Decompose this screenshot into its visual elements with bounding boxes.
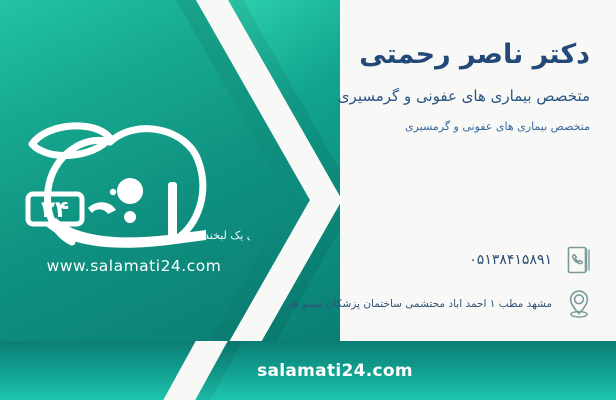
logo-number-badge: ۲۴ — [28, 194, 82, 224]
logo-tagline: به راحتی یک لبخند — [204, 229, 250, 242]
map-pin-icon — [564, 287, 594, 321]
footer-website-url[interactable]: salamati24.com — [0, 341, 616, 400]
doctor-specialty-secondary: متخصص بیماری های عفونی و گرمسیری — [170, 120, 590, 135]
doctor-name: دکتر ناصر رحمتی — [170, 38, 590, 72]
business-card: ۲۴ به راحتی یک لبخند www.salamati24.com … — [0, 0, 616, 400]
logo-number: ۲۴ — [41, 197, 69, 223]
phone-number[interactable]: ۰۵۱۳۸۴۱۵۸۹۱ — [134, 252, 552, 268]
contact-row-address: مشهد مطب ۱ احمد اباد محتشمی ساختمان پزشک… — [134, 287, 594, 321]
clinic-address: مشهد مطب ۱ احمد اباد محتشمی ساختمان پزشک… — [134, 298, 552, 310]
contact-row-phone: ۰۵۱۳۸۴۱۵۸۹۱ — [134, 243, 594, 277]
doctor-specialty-primary: متخصص بیماری های عفونی و گرمسیری — [170, 86, 590, 106]
contact-list: ۰۵۱۳۸۴۱۵۸۹۱ مشهد مطب ۱ احمد اباد محتشمی … — [134, 243, 594, 331]
doctor-info: دکتر ناصر رحمتی متخصص بیماری های عفونی و… — [170, 38, 590, 135]
footer-bar: salamati24.com — [0, 341, 616, 400]
phone-book-icon — [564, 243, 594, 277]
